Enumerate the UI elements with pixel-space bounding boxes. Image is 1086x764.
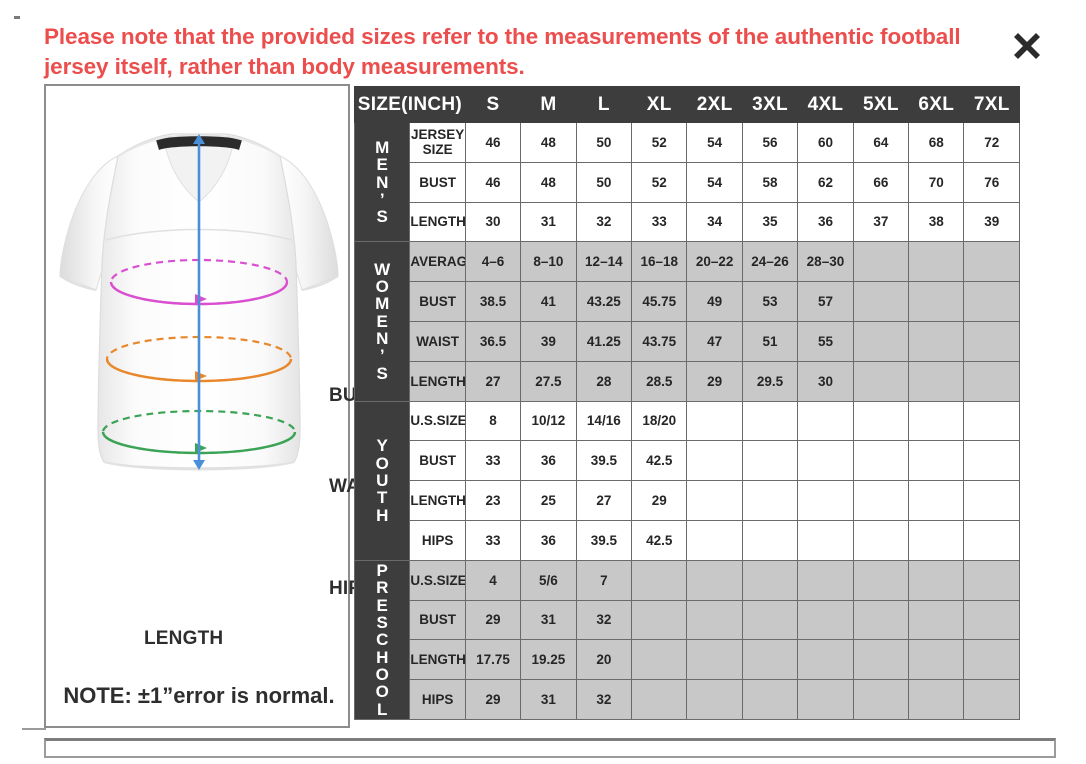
section-label-youth: YOUTH (355, 401, 410, 560)
table-cell (964, 361, 1020, 401)
table-cell: 68 (909, 123, 964, 163)
table-cell (853, 640, 908, 680)
row-label: U.S.SIZE (410, 560, 465, 600)
table-cell (742, 401, 797, 441)
table-cell (742, 600, 797, 640)
table-cell: 33 (465, 520, 520, 560)
table-cell: 19.25 (521, 640, 576, 680)
table-cell: 12–14 (576, 242, 631, 282)
table-header-7xl: 7XL (964, 87, 1020, 123)
corner-mark (14, 16, 20, 19)
table-cell: 43.75 (632, 321, 687, 361)
table-cell: 58 (742, 162, 797, 202)
close-icon[interactable] (1005, 24, 1049, 68)
table-cell: 7 (576, 560, 631, 600)
table-cell: 33 (632, 202, 687, 242)
section-label-mens: MEN’S (355, 123, 410, 242)
table-header-3xl: 3XL (742, 87, 797, 123)
table-cell (798, 640, 853, 680)
table-cell: 18/20 (632, 401, 687, 441)
bottom-strip (44, 738, 1056, 758)
table-cell: 33 (465, 441, 520, 481)
table-cell: 5/6 (521, 560, 576, 600)
table-cell: 4–6 (465, 242, 520, 282)
section-label-womens: WOMEN’S (355, 242, 410, 401)
table-cell: 27 (576, 481, 631, 521)
table-cell (964, 441, 1020, 481)
table-cell: 38.5 (465, 282, 520, 322)
table-header-4xl: 4XL (798, 87, 853, 123)
table-cell: 55 (798, 321, 853, 361)
table-cell (798, 600, 853, 640)
table-cell: 28.5 (632, 361, 687, 401)
table-cell: 31 (521, 600, 576, 640)
table-cell: 4 (465, 560, 520, 600)
table-cell: 30 (798, 361, 853, 401)
table-cell (964, 242, 1020, 282)
table-row: MEN’SJERSEYSIZE46485052545660646872 (355, 123, 1020, 163)
table-cell: 54 (687, 123, 742, 163)
table-header-m: M (521, 87, 576, 123)
table-cell: 41 (521, 282, 576, 322)
table-cell: 31 (521, 680, 576, 720)
jersey-illustration: BUST WAIST HIPS LENGTH (46, 94, 352, 564)
table-cell: 23 (465, 481, 520, 521)
table-cell: 76 (964, 162, 1020, 202)
table-cell (798, 560, 853, 600)
table-cell: 29 (465, 600, 520, 640)
table-cell (964, 481, 1020, 521)
row-label: WAIST (410, 321, 465, 361)
table-cell (964, 282, 1020, 322)
table-cell (742, 680, 797, 720)
table-row: WAIST36.53941.2543.75475155 (355, 321, 1020, 361)
table-header-l: L (576, 87, 631, 123)
table-cell (909, 401, 964, 441)
table-cell: 48 (521, 162, 576, 202)
table-cell (687, 441, 742, 481)
table-row: YOUTHU.S.SIZE810/1214/1618/20 (355, 401, 1020, 441)
row-label: HIPS (410, 680, 465, 720)
table-cell: 45.75 (632, 282, 687, 322)
table-cell (687, 600, 742, 640)
table-cell: 39.5 (576, 520, 631, 560)
table-row: BUST46485052545862667076 (355, 162, 1020, 202)
table-cell (964, 401, 1020, 441)
table-cell (632, 680, 687, 720)
table-cell: 49 (687, 282, 742, 322)
table-cell: 20–22 (687, 242, 742, 282)
chart-content: BUST WAIST HIPS LENGTH NOTE: ±1”error is… (22, 84, 1064, 732)
table-cell: 37 (853, 202, 908, 242)
table-cell: 10/12 (521, 401, 576, 441)
table-cell (909, 321, 964, 361)
table-cell: 50 (576, 123, 631, 163)
table-cell (964, 600, 1020, 640)
table-cell (909, 560, 964, 600)
table-cell (853, 520, 908, 560)
table-cell (798, 401, 853, 441)
table-row: LENGTH30313233343536373839 (355, 202, 1020, 242)
table-cell: 42.5 (632, 520, 687, 560)
table-cell: 36.5 (465, 321, 520, 361)
size-table: SIZE(INCH)SMLXL2XL3XL4XL5XL6XL7XL MEN’SJ… (354, 86, 1020, 720)
table-cell: 28 (576, 361, 631, 401)
table-cell: 43.25 (576, 282, 631, 322)
table-cell (853, 401, 908, 441)
table-cell (853, 680, 908, 720)
table-cell (742, 441, 797, 481)
table-cell (687, 481, 742, 521)
table-cell: 32 (576, 680, 631, 720)
row-label: LENGTH (410, 640, 465, 680)
table-cell: 8 (465, 401, 520, 441)
size-table-wrapper: SIZE(INCH)SMLXL2XL3XL4XL5XL6XL7XL MEN’SJ… (354, 86, 1022, 720)
table-cell (632, 560, 687, 600)
table-cell (964, 321, 1020, 361)
table-cell (632, 600, 687, 640)
table-cell (687, 680, 742, 720)
row-label: AVERAGE (410, 242, 465, 282)
row-label: LENGTH (410, 202, 465, 242)
table-header-row: SIZE(INCH)SMLXL2XL3XL4XL5XL6XL7XL (355, 87, 1020, 123)
table-cell (909, 441, 964, 481)
row-label: BUST (410, 162, 465, 202)
table-cell: 28–30 (798, 242, 853, 282)
table-cell: 70 (909, 162, 964, 202)
table-cell: 46 (465, 162, 520, 202)
table-cell: 39.5 (576, 441, 631, 481)
table-cell: 54 (687, 162, 742, 202)
table-cell: 64 (853, 123, 908, 163)
table-cell: 27.5 (521, 361, 576, 401)
table-cell: 60 (798, 123, 853, 163)
table-row: BUST293132 (355, 600, 1020, 640)
table-cell (909, 242, 964, 282)
table-cell (742, 560, 797, 600)
row-label: BUST (410, 282, 465, 322)
row-label: LENGTH (410, 481, 465, 521)
table-cell: 20 (576, 640, 631, 680)
table-cell: 50 (576, 162, 631, 202)
table-cell (909, 600, 964, 640)
table-cell (742, 520, 797, 560)
table-row: LENGTH17.7519.2520 (355, 640, 1020, 680)
table-cell (853, 282, 908, 322)
row-label: BUST (410, 600, 465, 640)
table-cell: 29.5 (742, 361, 797, 401)
table-cell: 38 (909, 202, 964, 242)
table-cell: 36 (521, 520, 576, 560)
table-cell (742, 481, 797, 521)
table-cell: 17.75 (465, 640, 520, 680)
table-cell: 57 (798, 282, 853, 322)
table-cell (853, 441, 908, 481)
table-row: LENGTH23252729 (355, 481, 1020, 521)
table-cell: 72 (964, 123, 1020, 163)
table-cell: 52 (632, 123, 687, 163)
table-cell: 66 (853, 162, 908, 202)
table-cell: 39 (521, 321, 576, 361)
table-cell: 42.5 (632, 441, 687, 481)
table-cell: 62 (798, 162, 853, 202)
table-row: BUST38.54143.2545.75495357 (355, 282, 1020, 322)
table-cell (687, 401, 742, 441)
table-cell: 24–26 (742, 242, 797, 282)
table-cell: 25 (521, 481, 576, 521)
table-cell (853, 321, 908, 361)
table-cell (853, 481, 908, 521)
notice-text: Please note that the provided sizes refe… (44, 22, 979, 82)
table-cell: 41.25 (576, 321, 631, 361)
table-cell (964, 560, 1020, 600)
table-cell (853, 242, 908, 282)
table-row: PRESCHOOLU.S.SIZE45/67 (355, 560, 1020, 600)
table-cell: 51 (742, 321, 797, 361)
table-cell (909, 282, 964, 322)
row-label: U.S.SIZE (410, 401, 465, 441)
table-cell: 48 (521, 123, 576, 163)
table-cell (798, 441, 853, 481)
row-label: HIPS (410, 520, 465, 560)
table-cell: 27 (465, 361, 520, 401)
table-cell: 56 (742, 123, 797, 163)
table-row: HIPS333639.542.5 (355, 520, 1020, 560)
table-cell (687, 640, 742, 680)
table-cell: 46 (465, 123, 520, 163)
table-header-5xl: 5XL (853, 87, 908, 123)
table-cell (687, 560, 742, 600)
size-chart-page: Please note that the provided sizes refe… (0, 0, 1086, 764)
bottom-left-rule (22, 728, 46, 730)
table-cell (632, 640, 687, 680)
table-cell: 30 (465, 202, 520, 242)
table-cell (909, 520, 964, 560)
table-cell: 29 (465, 680, 520, 720)
table-header-xl: XL (632, 87, 687, 123)
table-cell: 14/16 (576, 401, 631, 441)
table-cell: 36 (798, 202, 853, 242)
table-cell: 53 (742, 282, 797, 322)
table-cell (798, 520, 853, 560)
table-row: HIPS293132 (355, 680, 1020, 720)
table-head: SIZE(INCH)SMLXL2XL3XL4XL5XL6XL7XL (355, 87, 1020, 123)
table-cell: 31 (521, 202, 576, 242)
table-cell (964, 520, 1020, 560)
table-cell: 32 (576, 600, 631, 640)
table-row: LENGTH2727.52828.52929.530 (355, 361, 1020, 401)
table-header-6xl: 6XL (909, 87, 964, 123)
table-cell (853, 361, 908, 401)
table-cell: 36 (521, 441, 576, 481)
table-cell (853, 560, 908, 600)
table-cell (964, 640, 1020, 680)
section-label-preschool: PRESCHOOL (355, 560, 410, 719)
table-cell: 39 (964, 202, 1020, 242)
table-cell (909, 640, 964, 680)
row-label: LENGTH (410, 361, 465, 401)
table-cell (909, 361, 964, 401)
table-cell: 29 (632, 481, 687, 521)
table-cell: 32 (576, 202, 631, 242)
table-cell: 16–18 (632, 242, 687, 282)
table-header-s: S (465, 87, 520, 123)
table-row: BUST333639.542.5 (355, 441, 1020, 481)
table-cell: 29 (687, 361, 742, 401)
table-cell (853, 600, 908, 640)
jersey-diagram-panel: BUST WAIST HIPS LENGTH NOTE: ±1”error is… (44, 84, 350, 728)
table-cell (742, 640, 797, 680)
table-cell (909, 680, 964, 720)
table-cell (909, 481, 964, 521)
table-cell: 47 (687, 321, 742, 361)
table-cell: 8–10 (521, 242, 576, 282)
table-cell (687, 520, 742, 560)
table-body: MEN’SJERSEYSIZE46485052545660646872BUST4… (355, 123, 1020, 720)
row-label: BUST (410, 441, 465, 481)
table-cell: 35 (742, 202, 797, 242)
length-label: LENGTH (144, 628, 223, 650)
table-header-size-inch: SIZE(INCH) (355, 87, 466, 123)
error-note: NOTE: ±1”error is normal. (46, 683, 352, 709)
table-cell (798, 680, 853, 720)
table-cell (798, 481, 853, 521)
table-header-2xl: 2XL (687, 87, 742, 123)
table-cell: 34 (687, 202, 742, 242)
table-row: WOMEN’SAVERAGE4–68–1012–1416–1820–2224–2… (355, 242, 1020, 282)
table-cell (964, 680, 1020, 720)
table-cell: 52 (632, 162, 687, 202)
row-label: JERSEYSIZE (410, 123, 465, 163)
